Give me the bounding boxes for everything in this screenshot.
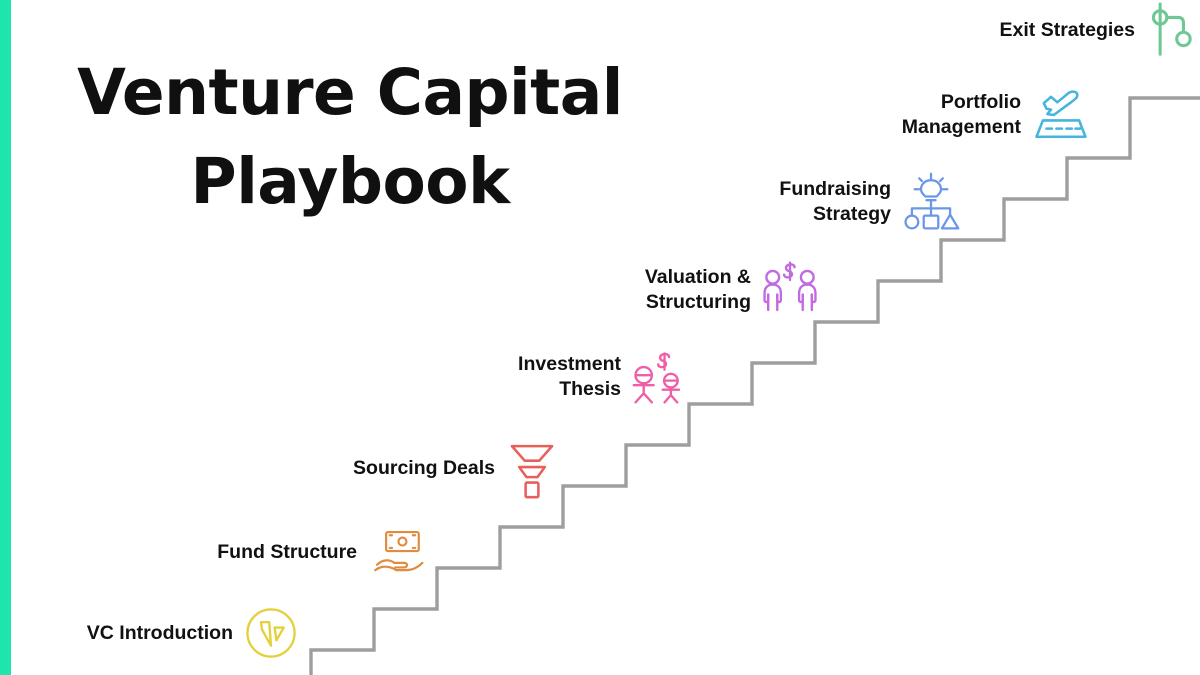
- slide-canvas: Venture Capital Playbook VC Introduction…: [0, 0, 1200, 675]
- people-dollar-icon: [630, 348, 690, 406]
- step-label: Portfolio Management: [902, 90, 1021, 140]
- step-item-exit-strategies[interactable]: Exit Strategies: [940, 2, 1196, 58]
- step-label: Sourcing Deals: [353, 456, 495, 481]
- money-in-hand-icon: [366, 523, 428, 581]
- git-branch-icon: [1144, 2, 1196, 58]
- step-label: VC Introduction: [87, 621, 233, 646]
- step-item-valuation-structuring[interactable]: Valuation & Structuring: [560, 260, 820, 320]
- funnel-icon: [504, 437, 560, 499]
- title-line-2: Playbook: [60, 137, 640, 226]
- vc-logo-icon: [242, 604, 300, 662]
- step-label: Exit Strategies: [1000, 18, 1135, 43]
- step-label: Investment Thesis: [518, 352, 621, 402]
- step-label: Fundraising Strategy: [779, 177, 891, 227]
- step-item-fundraising-strategy[interactable]: Fundraising Strategy: [690, 172, 962, 232]
- lightbulb-hierarchy-icon: [900, 172, 962, 232]
- two-people-dollar-icon: [760, 260, 820, 320]
- step-item-investment-thesis[interactable]: Investment Thesis: [430, 348, 690, 406]
- plane-takeoff-icon: [1030, 86, 1092, 144]
- step-label: Valuation & Structuring: [645, 265, 751, 315]
- step-label: Fund Structure: [217, 540, 357, 565]
- page-title: Venture Capital Playbook: [60, 48, 640, 227]
- step-item-portfolio-management[interactable]: Portfolio Management: [820, 86, 1092, 144]
- step-item-vc-introduction[interactable]: VC Introduction: [40, 604, 300, 662]
- step-item-sourcing-deals[interactable]: Sourcing Deals: [300, 437, 560, 499]
- step-item-fund-structure[interactable]: Fund Structure: [168, 523, 428, 581]
- title-line-1: Venture Capital: [60, 48, 640, 137]
